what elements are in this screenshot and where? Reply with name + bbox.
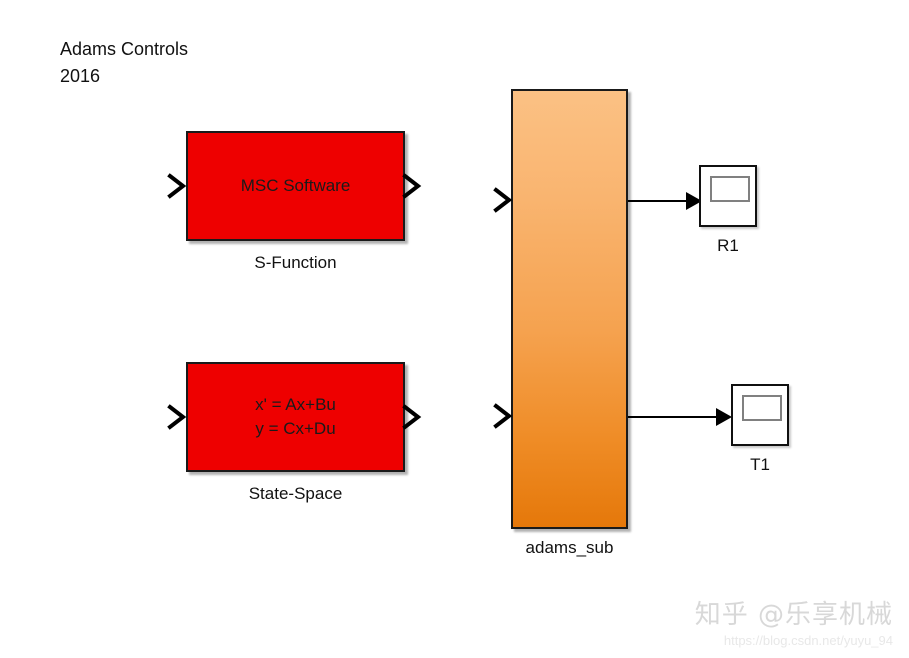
- adams-sub-input-port-2[interactable]: [494, 403, 512, 429]
- simulink-model-canvas: Adams Controls 2016 MSC Software S-Funct…: [0, 0, 909, 658]
- state-space-input-port[interactable]: [168, 404, 186, 430]
- block-adams-sub-caption: adams_sub: [496, 538, 643, 558]
- adams-sub-input-port-1[interactable]: [494, 187, 512, 213]
- scope-t1-caption: T1: [731, 455, 789, 475]
- watermark-url: https://blog.csdn.net/yuyu_94: [695, 633, 893, 648]
- state-space-output-port[interactable]: [403, 404, 421, 430]
- signal-line-adams-sub-to-r1: [628, 200, 690, 202]
- block-s-function-caption: S-Function: [186, 253, 405, 273]
- watermark: 知乎 @乐享机械 https://blog.csdn.net/yuyu_94: [695, 594, 893, 648]
- signal-line-adams-sub-to-t1: [628, 416, 720, 418]
- arrow-head-icon-t1: [716, 408, 732, 426]
- scope-block-r1[interactable]: [699, 165, 757, 227]
- block-state-space-caption: State-Space: [186, 484, 405, 504]
- block-s-function[interactable]: MSC Software: [186, 131, 405, 241]
- watermark-brand: 知乎 @乐享机械: [695, 594, 893, 631]
- block-state-space[interactable]: x' = Ax+Bu y = Cx+Du: [186, 362, 405, 472]
- scope-block-t1[interactable]: [731, 384, 789, 446]
- scope-icon-r1: [710, 176, 750, 202]
- diagram-title: Adams Controls 2016: [60, 36, 188, 90]
- scope-icon-t1: [742, 395, 782, 421]
- block-s-function-label: MSC Software: [241, 174, 351, 198]
- s-function-output-port[interactable]: [403, 173, 421, 199]
- s-function-input-port[interactable]: [168, 173, 186, 199]
- block-adams-sub[interactable]: [511, 89, 628, 529]
- block-state-space-label: x' = Ax+Bu y = Cx+Du: [255, 393, 336, 441]
- scope-r1-caption: R1: [699, 236, 757, 256]
